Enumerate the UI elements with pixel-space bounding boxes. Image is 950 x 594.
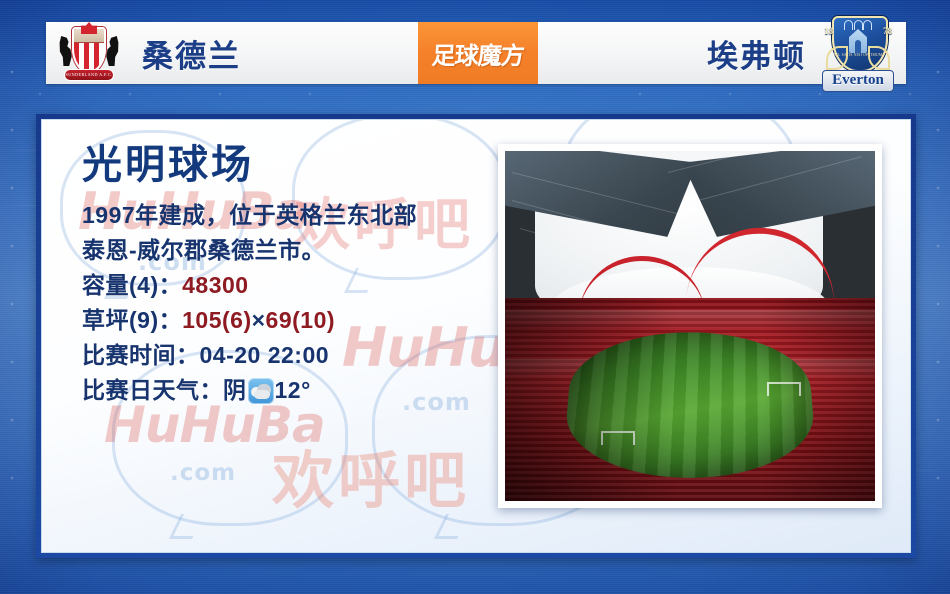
everton-crest-year-left: 18 bbox=[824, 26, 833, 36]
match-time-row: 比赛时间：04-20 22:00 bbox=[82, 338, 502, 373]
match-info-screen: SUNDERLAND A.F.C. 桑德兰 足球魔方 埃弗顿 18 78 NIL… bbox=[0, 0, 950, 594]
pitch-separator: × bbox=[252, 307, 266, 333]
site-logo-text: 足球魔方 bbox=[431, 36, 525, 71]
built-location-line-1: 1997年建成，位于英格兰东北部 bbox=[82, 198, 502, 233]
pitch-length: 105(6) bbox=[182, 307, 251, 333]
watermark-brand-domain: .com bbox=[170, 460, 236, 486]
match-time-value: 04-20 22:00 bbox=[200, 342, 330, 368]
stadium-title: 光明球场 bbox=[82, 144, 502, 186]
match-header-bar: SUNDERLAND A.F.C. 桑德兰 足球魔方 埃弗顿 18 78 NIL… bbox=[46, 22, 906, 84]
weather-temperature: 12° bbox=[275, 377, 311, 403]
weather-row: 比赛日天气：阴12° bbox=[82, 373, 502, 408]
stadium-info-text: 光明球场 1997年建成，位于英格兰东北部 泰恩-威尔郡桑德兰市。 容量(4)：… bbox=[82, 144, 502, 408]
home-team-name: 桑德兰 bbox=[142, 31, 241, 76]
stadium-photo-frame bbox=[498, 144, 882, 508]
site-logo-badge[interactable]: 足球魔方 bbox=[418, 22, 538, 84]
capacity-row: 容量(4)：48300 bbox=[82, 268, 502, 303]
pitch-size-row: 草坪(9)：105(6)×69(10) bbox=[82, 303, 502, 338]
weather-condition: 阴 bbox=[223, 377, 247, 403]
stadium-info-card: HuHuBa .com HuHuBa .com HuHuBa .com .com… bbox=[36, 114, 916, 558]
everton-crest-year-right: 78 bbox=[883, 26, 892, 36]
everton-crest-name: Everton bbox=[822, 70, 894, 92]
everton-crest-icon: 18 78 NIL SATIS NISI OPTIMUM Everton bbox=[822, 14, 894, 92]
capacity-label: 容量(4)： bbox=[82, 272, 182, 298]
stadium-interior-photo bbox=[505, 151, 875, 501]
weather-label: 比赛日天气： bbox=[82, 377, 223, 403]
sunderland-crest-banner: SUNDERLAND A.F.C. bbox=[64, 69, 114, 81]
home-team-block[interactable]: SUNDERLAND A.F.C. 桑德兰 bbox=[58, 22, 241, 84]
capacity-value: 48300 bbox=[182, 272, 248, 298]
watermark-brand-cn: 欢呼吧 bbox=[272, 430, 470, 520]
pitch-label: 草坪(9)： bbox=[82, 307, 182, 333]
match-time-label: 比赛时间： bbox=[82, 342, 200, 368]
sunderland-crest-icon: SUNDERLAND A.F.C. bbox=[58, 24, 120, 82]
away-team-name: 埃弗顿 bbox=[707, 31, 806, 76]
pitch-width: 69(10) bbox=[266, 307, 335, 333]
away-team-block[interactable]: 埃弗顿 18 78 NIL SATIS NISI OPTIMUM Everton bbox=[707, 22, 894, 84]
everton-crest-motto: NIL SATIS NISI OPTIMUM bbox=[830, 50, 886, 60]
cloudy-icon bbox=[248, 378, 274, 404]
built-location-line-2: 泰恩-威尔郡桑德兰市。 bbox=[82, 233, 502, 268]
